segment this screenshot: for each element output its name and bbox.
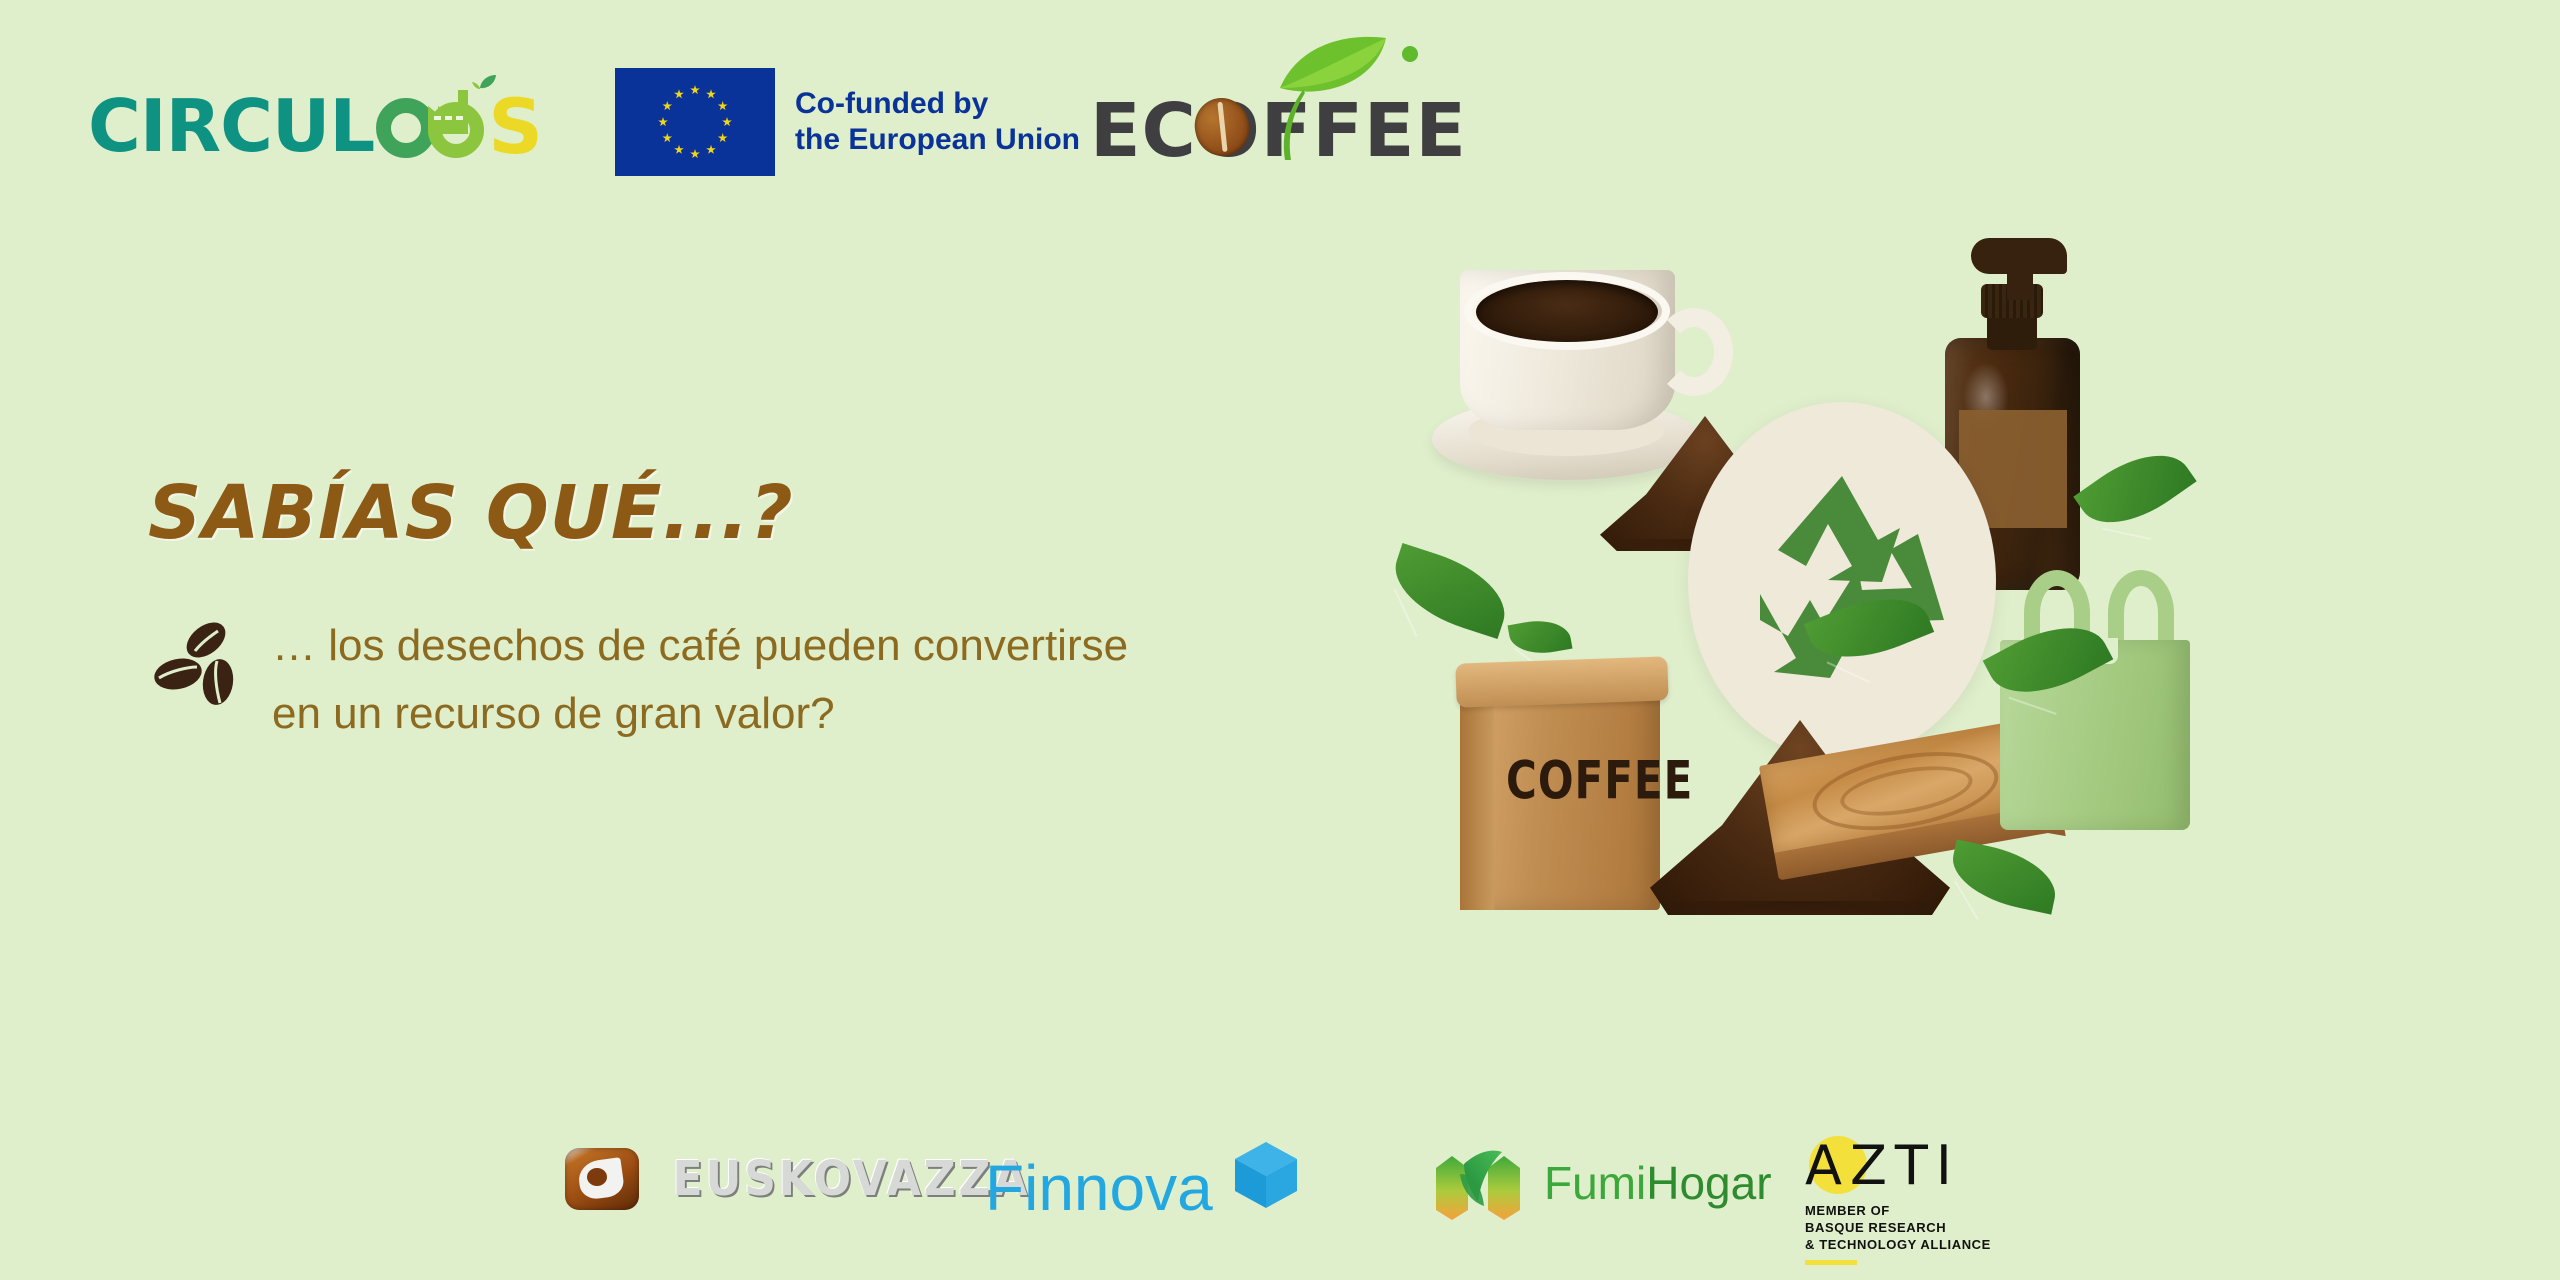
- fumihogar-wordmark: FumiHogar: [1544, 1156, 1772, 1210]
- eu-cofunded-logo: Co-funded by the European Union: [615, 68, 1080, 176]
- message-line-2: en un recurso de gran valor?: [272, 680, 1128, 748]
- eu-text-line1: Co-funded by: [795, 86, 1080, 122]
- fumihogar-text-part1: Fumi: [1544, 1157, 1646, 1209]
- eu-flag-icon: [615, 68, 775, 176]
- azti-subtitle-line3: & TECHNOLOGY ALLIANCE: [1805, 1236, 2015, 1253]
- circulods-wordmark: CIRCUL: [88, 94, 374, 158]
- eu-star-icon: [662, 101, 672, 111]
- azti-wordmark: AZTI: [1805, 1134, 1960, 1197]
- fumihogar-text-part2: Hogar: [1646, 1157, 1771, 1209]
- leaf-monogram-icon: [1430, 1144, 1530, 1222]
- circulods-logo: CIRCUL S: [88, 78, 544, 158]
- dot-icon: [1402, 46, 1418, 62]
- bag-label-text: COFFEE: [1506, 750, 1693, 811]
- coffee-paper-bag-icon: COFFEE: [1460, 660, 1680, 910]
- bag-side-fold-icon: [1460, 686, 1494, 910]
- azti-underline: [1805, 1260, 1857, 1265]
- eu-star-icon: [690, 149, 700, 159]
- finnova-wordmark: Finnova: [985, 1151, 1213, 1225]
- euskovazza-wordmark: EUSKOVAZZA: [673, 1151, 1031, 1207]
- leaf-icon: [1508, 615, 1573, 659]
- message-text: … los desechos de café pueden convertirs…: [272, 612, 1128, 748]
- eu-star-icon: [690, 85, 700, 95]
- eu-star-icon: [706, 145, 716, 155]
- pump-head-icon: [1971, 238, 2067, 274]
- header-logo-bar: CIRCUL S Co-funded b: [0, 0, 2560, 180]
- azti-subtitle-line2: BASQUE RESEARCH: [1805, 1219, 2015, 1236]
- message-block: … los desechos de café pueden convertirs…: [148, 612, 1128, 748]
- bag-top-fold-icon: [1455, 656, 1668, 707]
- leaf-icon: [1383, 543, 1516, 639]
- fumihogar-logo[interactable]: FumiHogar: [1430, 1144, 1772, 1222]
- eu-star-icon: [706, 89, 716, 99]
- coffee-beans-icon: [148, 618, 244, 714]
- message-line-1: … los desechos de café pueden convertirs…: [272, 612, 1128, 680]
- page-title: SABÍAS QUÉ...?: [148, 470, 794, 556]
- cup-handle-icon: [1655, 308, 1733, 396]
- eu-star-icon: [674, 89, 684, 99]
- factory-leaf-icon: S: [376, 72, 544, 158]
- azti-subtitle-line1: MEMBER OF: [1805, 1202, 2015, 1219]
- leaf-icon: [1946, 839, 2063, 914]
- coffee-cup-square-icon: [565, 1148, 639, 1210]
- eu-star-icon: [674, 145, 684, 155]
- eu-star-icon: [722, 117, 732, 127]
- eu-star-icon: [658, 117, 668, 127]
- eu-text-line2: the European Union: [795, 122, 1080, 158]
- recycle-symbol-icon: [1688, 402, 1996, 760]
- eu-star-icon: [718, 133, 728, 143]
- circulods-s-letter: S: [488, 92, 543, 162]
- azti-mark: AZTI: [1805, 1134, 2015, 1198]
- partner-logo-bar: EUSKOVAZZA Finnova: [0, 1130, 2560, 1260]
- factory-icon: [428, 90, 486, 134]
- leaf-stem-icon: [1275, 90, 1305, 160]
- azti-subtitle: MEMBER OF BASQUE RESEARCH & TECHNOLOGY A…: [1805, 1202, 2015, 1253]
- cup-opening-icon: [587, 1168, 607, 1186]
- azti-logo[interactable]: AZTI MEMBER OF BASQUE RESEARCH & TECHNOL…: [1805, 1134, 2015, 1265]
- eu-star-icon: [718, 101, 728, 111]
- finnova-logo[interactable]: Finnova: [985, 1140, 1301, 1236]
- cup-rim-icon: [1464, 272, 1670, 350]
- cube-icon: [1231, 1140, 1301, 1210]
- eu-cofunded-text: Co-funded by the European Union: [795, 86, 1080, 158]
- product-collage: COFFEE: [1390, 230, 2190, 1030]
- eu-star-icon: [662, 133, 672, 143]
- poster-canvas: CIRCUL S Co-funded b: [0, 0, 2560, 1280]
- circle-green-icon: [376, 98, 436, 158]
- ecoffee-logo: ECOFFEE: [1090, 40, 1490, 170]
- euskovazza-logo[interactable]: EUSKOVAZZA: [565, 1148, 1046, 1210]
